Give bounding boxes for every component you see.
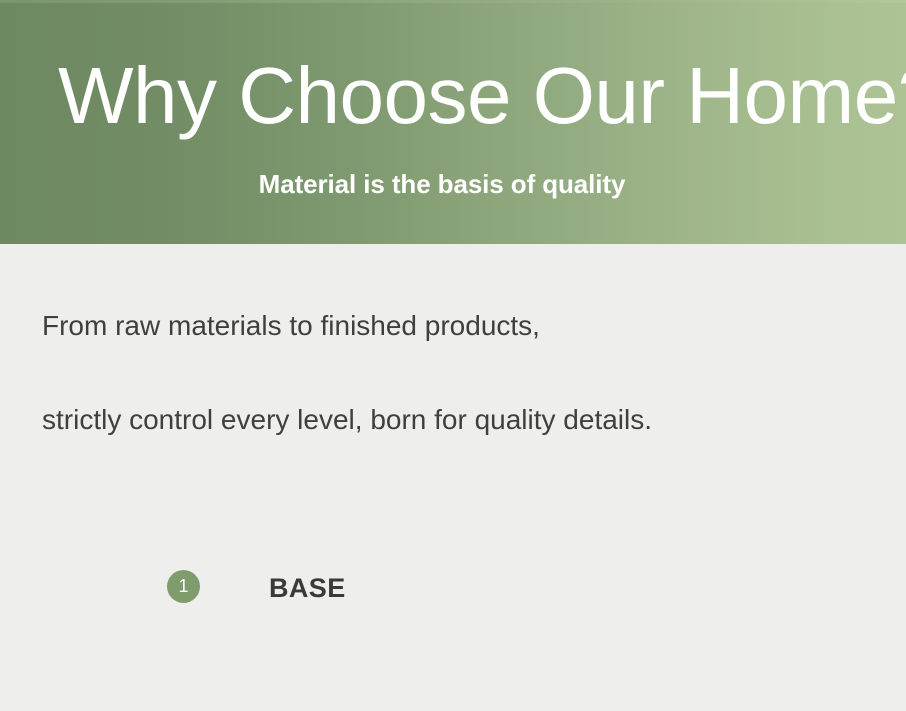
body-content-area: From raw materials to finished products,… (0, 244, 906, 711)
item-label-base: BASE (269, 573, 346, 603)
body-text-line-1: From raw materials to finished products, (42, 308, 540, 344)
header-band: Why Choose Our Home? Material is the bas… (0, 0, 906, 244)
header-top-accent-strip (0, 0, 906, 3)
page-subtitle: Material is the basis of quality (0, 167, 884, 201)
body-text-line-2: strictly control every level, born for q… (42, 402, 652, 438)
item-number-badge: 1 (167, 570, 200, 603)
page-title: Why Choose Our Home? (58, 52, 858, 140)
slide-canvas: Why Choose Our Home? Material is the bas… (0, 0, 906, 711)
